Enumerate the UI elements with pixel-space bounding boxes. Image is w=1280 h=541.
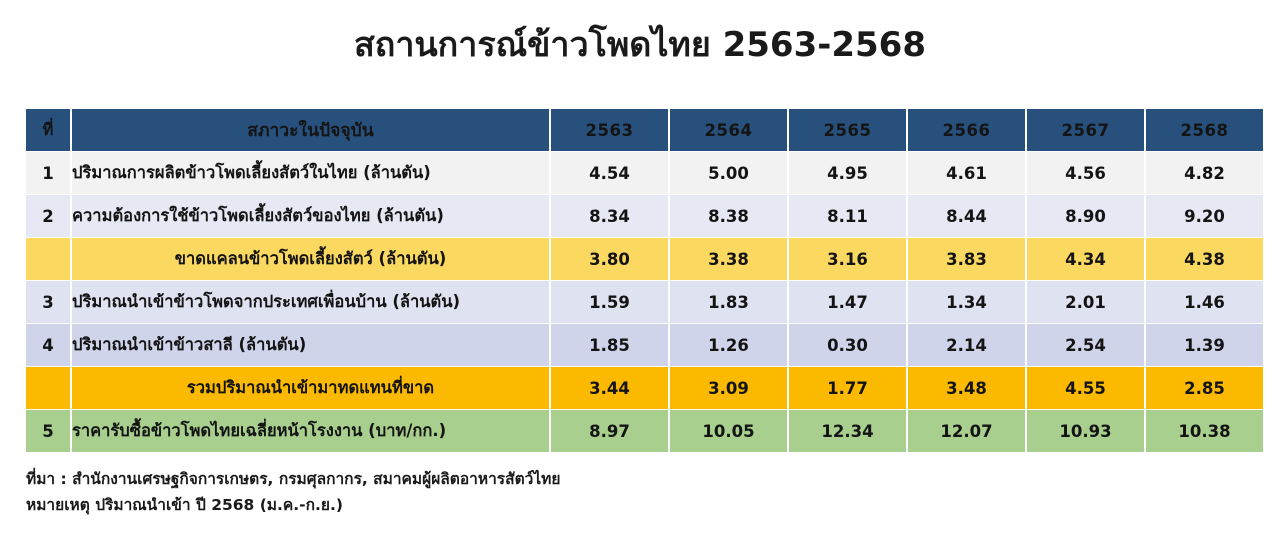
row-number: 1 [26,152,70,194]
corn-situation-table: ที่ สภาวะในปัจจุบัน 2563 2564 2565 2566 … [24,108,1257,453]
cell-value-2566: 2.14 [908,324,1025,366]
source-note: ที่มา : สำนักงานเศรษฐกิจการเกษตร, กรมศุล… [26,466,560,492]
column-header-year-2564: 2564 [670,109,787,151]
cell-value-2565: 1.47 [789,281,906,323]
cell-value-2563: 3.44 [551,367,668,409]
footnotes: ที่มา : สำนักงานเศรษฐกิจการเกษตร, กรมศุล… [26,466,560,518]
cell-value-2565: 0.30 [789,324,906,366]
table-row: 5ราคารับซื้อข้าวโพดไทยเฉลี่ยหน้าโรงงาน (… [26,410,1263,452]
row-number: 5 [26,410,70,452]
cell-value-2564: 1.26 [670,324,787,366]
cell-value-2564: 3.09 [670,367,787,409]
cell-value-2565: 12.34 [789,410,906,452]
cell-value-2568: 1.46 [1146,281,1263,323]
cell-value-2566: 4.61 [908,152,1025,194]
cell-value-2563: 3.80 [551,238,668,280]
cell-value-2567: 10.93 [1027,410,1144,452]
column-header-year-2565: 2565 [789,109,906,151]
infographic-page: สถานการณ์ข้าวโพดไทย 2563-2568 ที่ สภาวะใ… [0,0,1280,541]
cell-value-2566: 8.44 [908,195,1025,237]
cell-value-2567: 4.56 [1027,152,1144,194]
table-row: 3ปริมาณนำเข้าข้าวโพดจากประเทศเพื่อนบ้าน … [26,281,1263,323]
column-header-description: สภาวะในปัจจุบัน [72,109,549,151]
cell-value-2565: 4.95 [789,152,906,194]
table-header: ที่ สภาวะในปัจจุบัน 2563 2564 2565 2566 … [26,109,1263,151]
cell-value-2565: 8.11 [789,195,906,237]
cell-value-2565: 1.77 [789,367,906,409]
cell-value-2568: 2.85 [1146,367,1263,409]
column-header-year-2566: 2566 [908,109,1025,151]
cell-value-2563: 1.59 [551,281,668,323]
cell-value-2567: 4.55 [1027,367,1144,409]
cell-value-2567: 4.34 [1027,238,1144,280]
header-row: ที่ สภาวะในปัจจุบัน 2563 2564 2565 2566 … [26,109,1263,151]
row-label: ความต้องการใช้ข้าวโพดเลี้ยงสัตว์ของไทย (… [72,195,549,237]
table-row: รวมปริมาณนำเข้ามาทดแทนที่ขาด3.443.091.77… [26,367,1263,409]
row-number: 4 [26,324,70,366]
row-label: ปริมาณนำเข้าข้าวโพดจากประเทศเพื่อนบ้าน (… [72,281,549,323]
cell-value-2567: 8.90 [1027,195,1144,237]
page-title: สถานการณ์ข้าวโพดไทย 2563-2568 [0,22,1280,68]
column-header-no: ที่ [26,109,70,151]
table-row: 1ปริมาณการผลิตข้าวโพดเลี้ยงสัตว์ในไทย (ล… [26,152,1263,194]
column-header-year-2563: 2563 [551,109,668,151]
cell-value-2565: 3.16 [789,238,906,280]
cell-value-2568: 4.38 [1146,238,1263,280]
row-label: ปริมาณนำเข้าข้าวสาลี (ล้านตัน) [72,324,549,366]
cell-value-2566: 3.83 [908,238,1025,280]
row-label: ราคารับซื้อข้าวโพดไทยเฉลี่ยหน้าโรงงาน (บ… [72,410,549,452]
column-header-year-2567: 2567 [1027,109,1144,151]
cell-value-2564: 5.00 [670,152,787,194]
cell-value-2563: 4.54 [551,152,668,194]
table-row: 4ปริมาณนำเข้าข้าวสาลี (ล้านตัน)1.851.260… [26,324,1263,366]
cell-value-2566: 1.34 [908,281,1025,323]
column-header-year-2568: 2568 [1146,109,1263,151]
row-label: รวมปริมาณนำเข้ามาทดแทนที่ขาด [72,367,549,409]
cell-value-2563: 1.85 [551,324,668,366]
cell-value-2568: 9.20 [1146,195,1263,237]
remark-note: หมายเหตุ ปริมาณนำเข้า ปี 2568 (ม.ค.-ก.ย.… [26,492,560,518]
cell-value-2563: 8.34 [551,195,668,237]
row-label: ขาดแคลนข้าวโพดเลี้ยงสัตว์ (ล้านตัน) [72,238,549,280]
cell-value-2567: 2.54 [1027,324,1144,366]
cell-value-2564: 10.05 [670,410,787,452]
cell-value-2568: 10.38 [1146,410,1263,452]
cell-value-2563: 8.97 [551,410,668,452]
row-label: ปริมาณการผลิตข้าวโพดเลี้ยงสัตว์ในไทย (ล้… [72,152,549,194]
row-number: 2 [26,195,70,237]
cell-value-2564: 3.38 [670,238,787,280]
cell-value-2566: 3.48 [908,367,1025,409]
cell-value-2568: 4.82 [1146,152,1263,194]
cell-value-2568: 1.39 [1146,324,1263,366]
table-row: ขาดแคลนข้าวโพดเลี้ยงสัตว์ (ล้านตัน)3.803… [26,238,1263,280]
row-number [26,238,70,280]
row-number: 3 [26,281,70,323]
table-row: 2ความต้องการใช้ข้าวโพดเลี้ยงสัตว์ของไทย … [26,195,1263,237]
data-table: ที่ สภาวะในปัจจุบัน 2563 2564 2565 2566 … [24,108,1265,453]
cell-value-2566: 12.07 [908,410,1025,452]
cell-value-2564: 1.83 [670,281,787,323]
cell-value-2567: 2.01 [1027,281,1144,323]
table-body: 1ปริมาณการผลิตข้าวโพดเลี้ยงสัตว์ในไทย (ล… [26,152,1263,452]
row-number [26,367,70,409]
cell-value-2564: 8.38 [670,195,787,237]
